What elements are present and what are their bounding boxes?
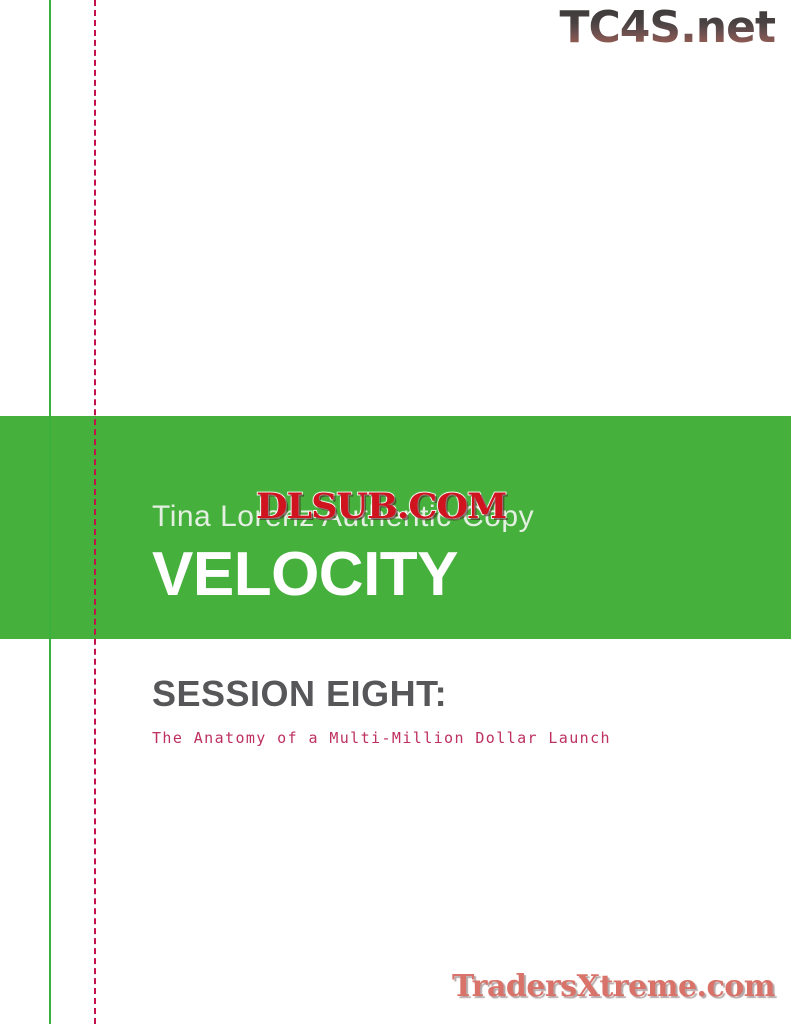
watermark-tradersxtreme-com: TradersXtreme.com [452, 972, 775, 1002]
watermark-tc4s-net: TC4S.net [559, 6, 775, 50]
document-page: TC4S.net Tina Lorenz Authentic-Copy VELO… [0, 0, 791, 1024]
title-band: Tina Lorenz Authentic-Copy VELOCITY [0, 416, 791, 639]
watermark-dlsub-com: DLSUB.COM [256, 489, 506, 524]
green-margin-rule [49, 0, 51, 1024]
session-block: SESSION EIGHT: The Anatomy of a Multi-Mi… [152, 675, 611, 747]
session-heading: SESSION EIGHT: [152, 675, 611, 713]
session-subtitle: The Anatomy of a Multi-Million Dollar La… [152, 729, 611, 747]
dashed-margin-rule [94, 0, 96, 1024]
course-title: VELOCITY [152, 544, 752, 606]
